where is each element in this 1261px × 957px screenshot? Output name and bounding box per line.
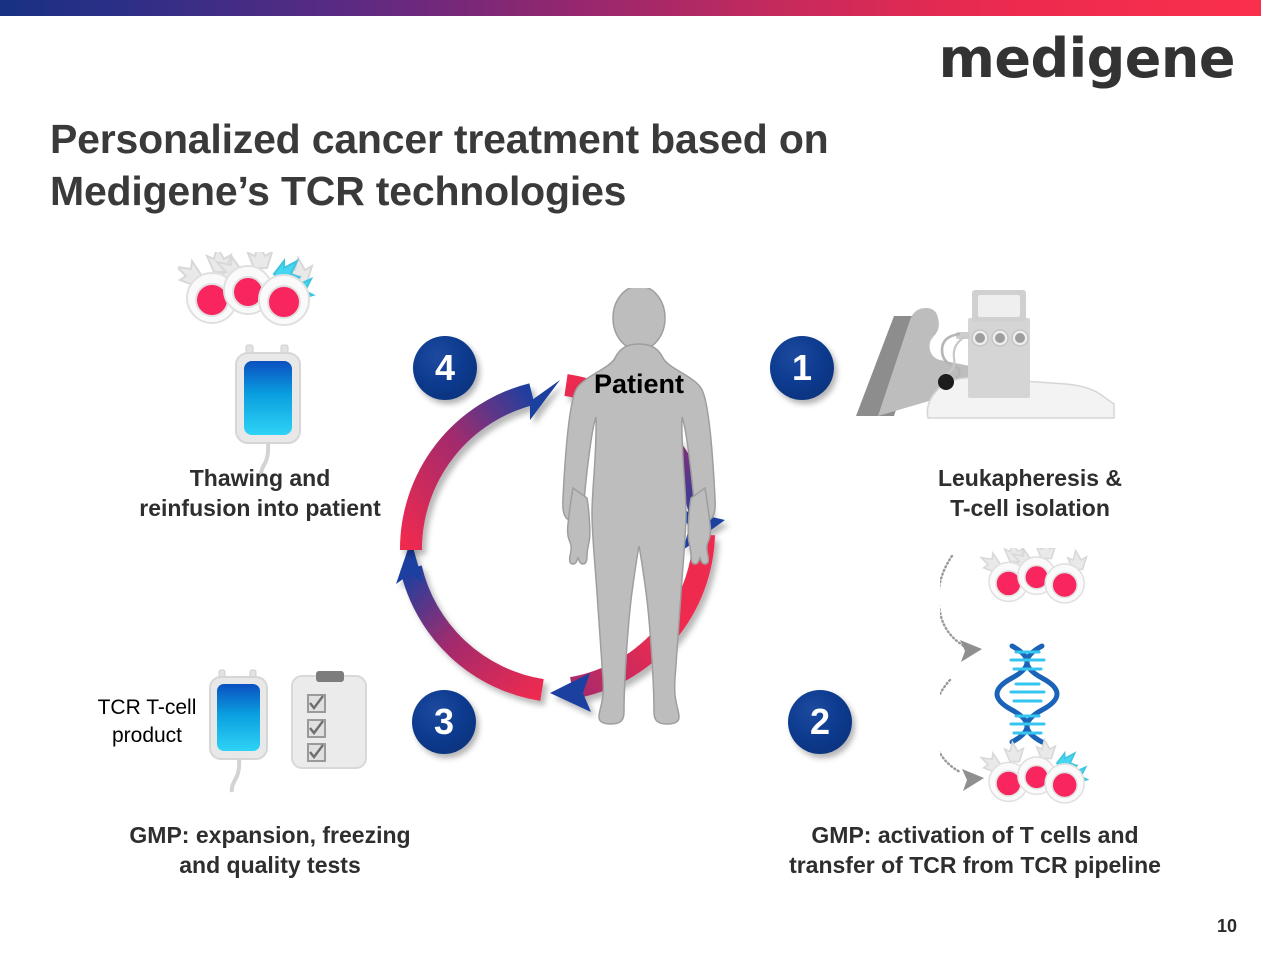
slide-root: medigene Personalized cancer treatment b…	[0, 0, 1261, 957]
title-line-2: Medigene’s TCR technologies	[50, 165, 1030, 217]
caption-step-1-line-2: T-cell isolation	[880, 493, 1180, 523]
tcr-product-label-line-2: product	[72, 722, 222, 750]
cycle-arc-3	[396, 540, 542, 690]
tcell-cluster-plain-icon	[981, 548, 1086, 603]
caption-step-4-line-2: reinfusion into patient	[60, 493, 460, 523]
arrowhead-icon	[962, 769, 984, 791]
product-and-quality-icons	[204, 668, 374, 798]
caption-step-2: GMP: activation of T cells and transfer …	[720, 820, 1230, 881]
caption-step-1: Leukapheresis & T-cell isolation	[880, 463, 1180, 524]
step-badge-1[interactable]: 1	[770, 336, 834, 400]
step-badge-2[interactable]: 2	[788, 690, 852, 754]
step-badge-4[interactable]: 4	[413, 336, 477, 400]
tcell-cluster-icon-top	[178, 252, 318, 347]
caption-step-2-line-1: GMP: activation of T cells and	[720, 820, 1230, 850]
tcell-cluster-engineered-icon	[981, 740, 1087, 803]
brand-gradient-bar	[0, 0, 1261, 16]
caption-step-2-line-2: transfer of TCR from TCR pipeline	[720, 850, 1230, 880]
caption-step-3-line-2: and quality tests	[50, 850, 490, 880]
step-badge-3[interactable]: 3	[412, 690, 476, 754]
patient-label: Patient	[594, 369, 684, 399]
title-line-1: Personalized cancer treatment based on	[50, 116, 829, 162]
leukapheresis-machine-icon	[848, 276, 1133, 426]
caption-step-1-line-1: Leukapheresis &	[880, 463, 1180, 493]
dna-helix-icon	[997, 646, 1057, 742]
medigene-logo: medigene	[939, 32, 1235, 86]
tcr-product-label-line-1: TCR T-cell	[72, 694, 222, 722]
caption-step-4: Thawing and reinfusion into patient	[60, 463, 460, 524]
clipboard-checklist-icon	[292, 671, 366, 768]
page-title: Personalized cancer treatment based on M…	[50, 113, 1030, 218]
tcr-product-label: TCR T-cell product	[72, 694, 222, 749]
caption-step-3-line-1: GMP: expansion, freezing	[50, 820, 490, 850]
infusion-bag-icon-top	[228, 343, 308, 478]
caption-step-3: GMP: expansion, freezing and quality tes…	[50, 820, 490, 881]
tcr-transfer-process-icons	[940, 548, 1140, 838]
page-number: 10	[1217, 916, 1237, 937]
arrowhead-icon	[960, 640, 982, 662]
dashed-arrow-icon	[940, 556, 964, 772]
caption-step-4-line-1: Thawing and	[60, 463, 460, 493]
